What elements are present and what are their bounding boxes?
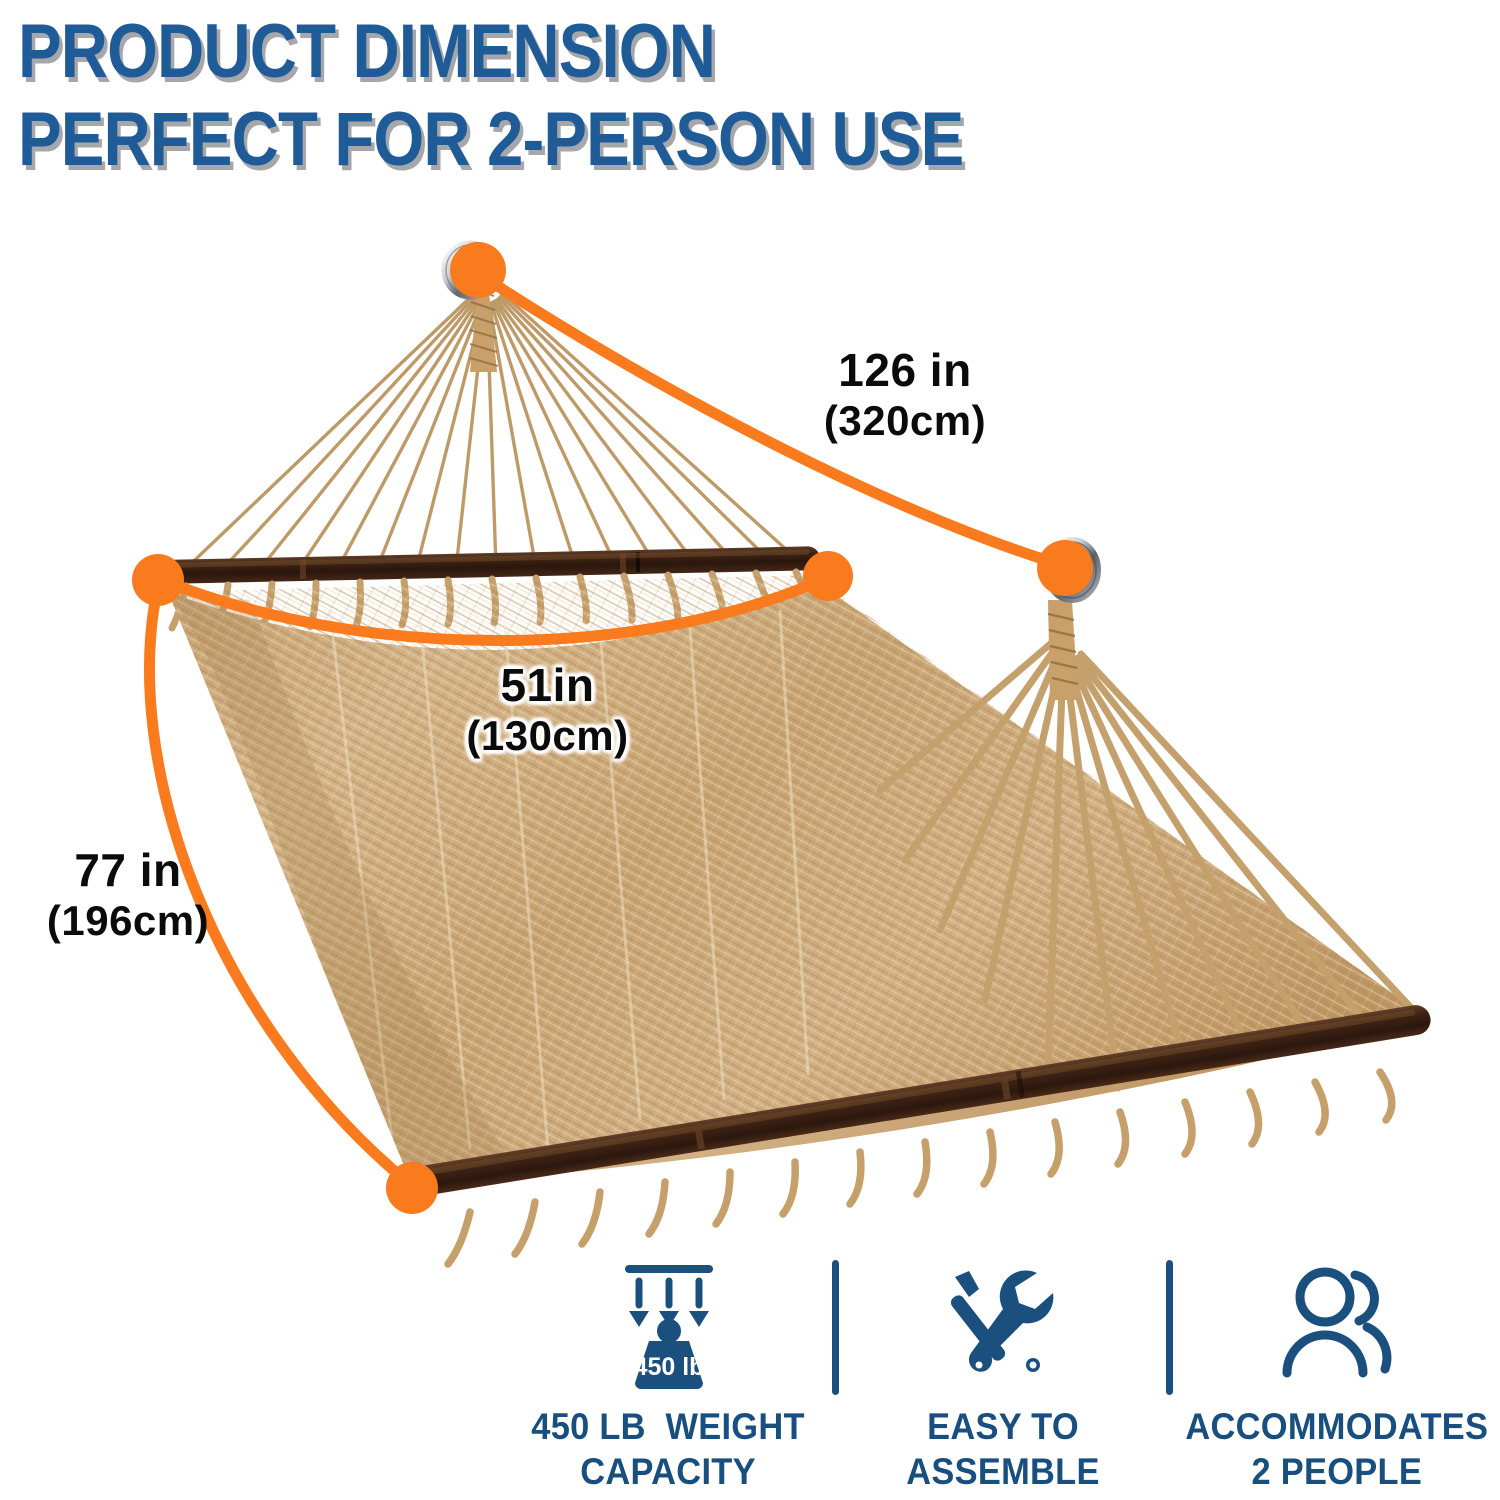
marker-top-bar-left	[132, 554, 184, 606]
marker-right-ring	[1037, 540, 1093, 596]
marker-top-bar-right	[803, 551, 853, 601]
weight-capacity-icon: 450 lb	[599, 1250, 739, 1400]
marker-bottom-bar-left	[386, 1162, 438, 1214]
dimension-label-width: 51in (130cm)	[440, 660, 655, 759]
feature-label-people: ACCOMMODATES 2 PEOPLE	[1185, 1404, 1488, 1494]
feature-divider-1	[832, 1260, 839, 1395]
feature-easy-assemble: EASY TO ASSEMBLE	[839, 1250, 1166, 1494]
width-centimeters: (130cm)	[440, 712, 655, 759]
weight-badge-text: 450 lb	[633, 1353, 704, 1381]
dimension-label-length: 126 in (320cm)	[795, 345, 1015, 444]
length-centimeters: (320cm)	[795, 397, 1015, 444]
feature-label-assemble: EASY TO ASSEMBLE	[906, 1404, 1099, 1494]
length-inches: 126 in	[795, 345, 1015, 397]
two-people-icon	[1267, 1250, 1407, 1400]
height-centimeters: (196cm)	[18, 897, 238, 944]
width-inches: 51in	[440, 660, 655, 712]
feature-weight-capacity: 450 lb 450 LB WEIGHT CAPACITY	[505, 1250, 832, 1494]
feature-divider-2	[1166, 1260, 1173, 1395]
right-rope-bundle	[1048, 600, 1078, 700]
feature-label-weight: 450 LB WEIGHT CAPACITY	[532, 1404, 805, 1494]
infographic-canvas: PRODUCT DIMENSION PERFECT FOR 2-PERSON U…	[0, 0, 1500, 1500]
tools-icon	[933, 1250, 1073, 1400]
height-inches: 77 in	[18, 845, 238, 897]
feature-strip: 450 lb 450 LB WEIGHT CAPACITY	[505, 1250, 1500, 1500]
dimension-label-height: 77 in (196cm)	[18, 845, 238, 944]
feature-capacity-people: ACCOMMODATES 2 PEOPLE	[1173, 1250, 1500, 1494]
marker-top-ring	[450, 242, 506, 298]
